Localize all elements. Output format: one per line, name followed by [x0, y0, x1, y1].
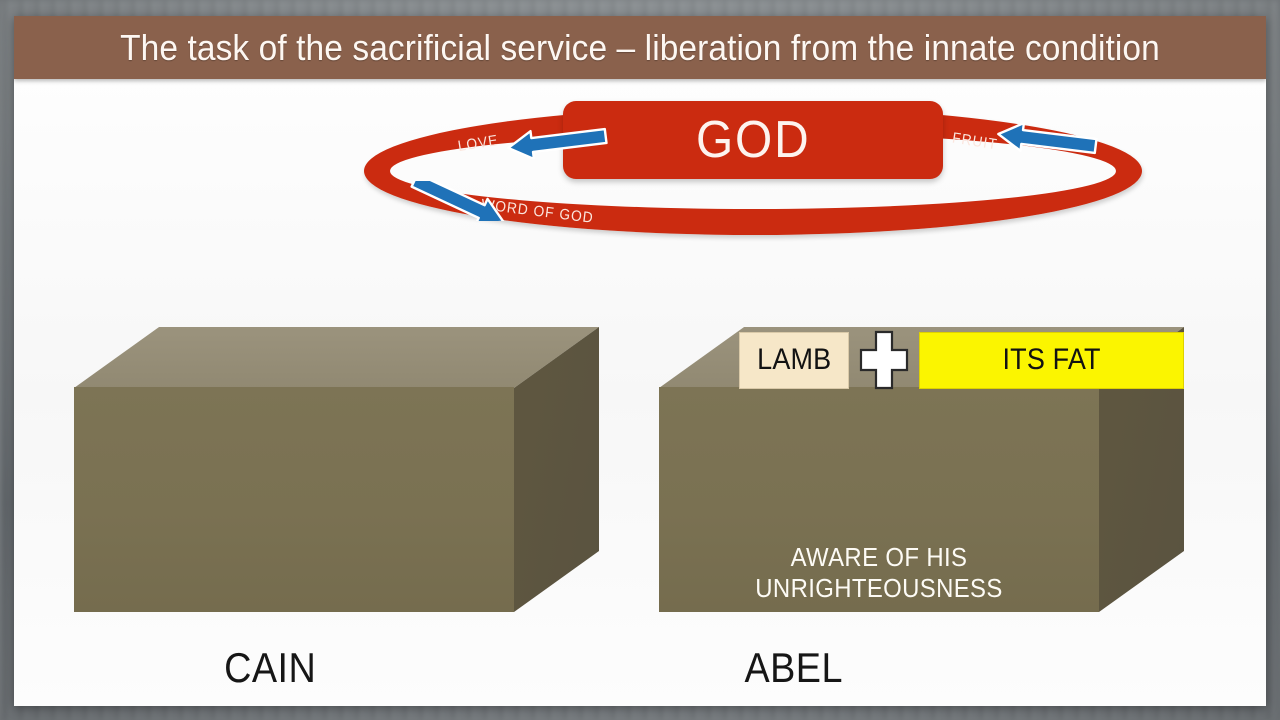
offering-box-cain: [74, 327, 599, 612]
slide-content-area: GOD LOVE FRUIT WORD OF GOD: [14, 79, 1266, 706]
plus-icon: [859, 330, 909, 390]
god-banner: GOD: [563, 101, 943, 179]
arrow-left-fruit-icon: [992, 123, 1102, 157]
abel-box-front-text: AWARE OF HIS UNRIGHTEOUSNESS: [677, 542, 1082, 604]
caption-cain: CAIN: [224, 644, 316, 692]
cain-box-front-face: [74, 387, 514, 612]
abel-offering-banner: LAMB ITS FAT: [739, 330, 1184, 390]
offering-item-lamb: LAMB: [739, 332, 849, 389]
slide-title-bar: The task of the sacrificial service – li…: [14, 16, 1266, 79]
slide-title-text: The task of the sacrificial service – li…: [120, 27, 1160, 69]
arrow-right-word-of-god-icon: [404, 181, 514, 221]
abel-front-text-line-1: AWARE OF HIS: [677, 542, 1082, 573]
offering-item-its-fat-label: ITS FAT: [1002, 343, 1100, 377]
god-banner-label: GOD: [696, 110, 810, 170]
divine-cycle-diagram: GOD LOVE FRUIT WORD OF GOD: [364, 101, 1154, 249]
offering-item-its-fat: ITS FAT: [919, 332, 1184, 389]
offering-box-abel: AWARE OF HIS UNRIGHTEOUSNESS LAMB ITS FA: [659, 327, 1184, 612]
arrow-left-love-icon: [502, 125, 612, 159]
slide-canvas: The task of the sacrificial service – li…: [14, 16, 1266, 706]
slide-root: The task of the sacrificial service – li…: [0, 0, 1280, 720]
abel-front-text-line-2: UNRIGHTEOUSNESS: [677, 573, 1082, 604]
caption-abel: ABEL: [744, 644, 842, 692]
cain-box-top-face: [74, 327, 599, 388]
offering-item-lamb-label: LAMB: [757, 343, 831, 377]
